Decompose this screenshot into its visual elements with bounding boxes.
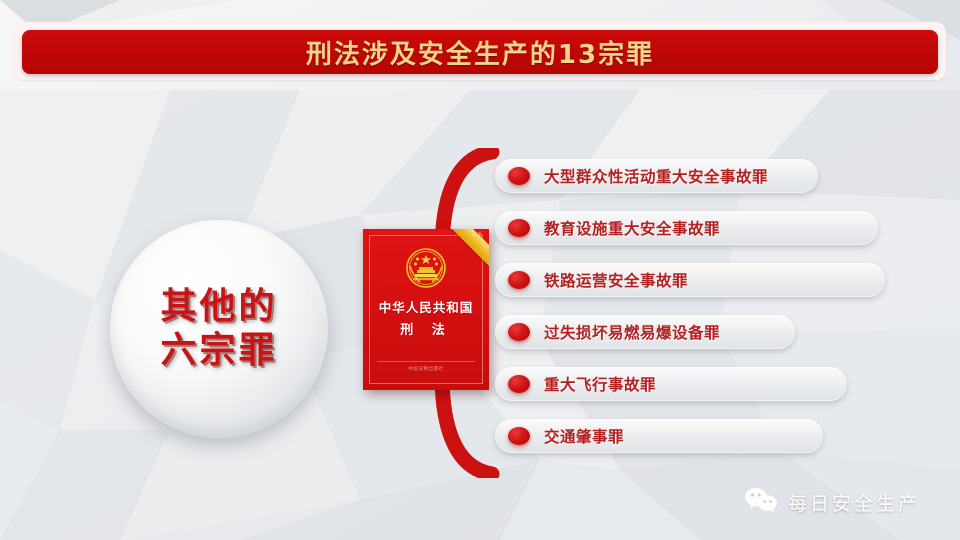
wechat-icon [744, 486, 778, 518]
list-item-label: 教育设施重大安全事故罪 [544, 217, 720, 239]
watermark: 每日安全生产 [744, 486, 920, 518]
list-item-label: 重大飞行事故罪 [544, 373, 656, 395]
slide-canvas: 刑法涉及安全生产的13宗罪 其他的 六宗罪 [0, 0, 960, 540]
list-item[interactable]: 教育设施重大安全事故罪 [495, 211, 878, 245]
bullet-icon [508, 167, 530, 185]
book-divider [377, 361, 475, 362]
bullet-icon [508, 271, 530, 289]
title-banner: 刑法涉及安全生产的13宗罪 [22, 30, 938, 74]
book-title-line2: 刑 法 [363, 319, 489, 338]
national-emblem-icon [404, 246, 448, 290]
criminal-law-book: 中华人民共和国 刑 法 中国法制出版社 最新 [363, 229, 489, 390]
page-title: 刑法涉及安全生产的13宗罪 [306, 34, 654, 71]
list-item[interactable]: 铁路运营安全事故罪 [495, 263, 885, 297]
other-six-crimes-circle: 其他的 六宗罪 [110, 220, 328, 438]
bullet-icon [508, 323, 530, 341]
circle-label-line1: 其他的 [160, 285, 277, 329]
list-item[interactable]: 过失损坏易燃易爆设备罪 [495, 315, 795, 349]
list-item-label: 交通肇事罪 [544, 425, 624, 447]
book-publisher: 中国法制出版社 [363, 366, 489, 372]
circle-label-line2: 六宗罪 [160, 329, 277, 373]
bullet-icon [508, 375, 530, 393]
book-title-line1: 中华人民共和国 [363, 297, 489, 316]
watermark-text: 每日安全生产 [788, 489, 920, 516]
bullet-icon [508, 219, 530, 237]
ribbon-label: 最新 [472, 231, 484, 237]
list-item-label: 过失损坏易燃易爆设备罪 [544, 321, 720, 343]
bullet-icon [508, 427, 530, 445]
list-item[interactable]: 重大飞行事故罪 [495, 367, 847, 401]
list-item-label: 大型群众性活动重大安全事故罪 [544, 165, 768, 187]
list-item[interactable]: 交通肇事罪 [495, 419, 823, 453]
list-item[interactable]: 大型群众性活动重大安全事故罪 [495, 159, 818, 193]
list-item-label: 铁路运营安全事故罪 [544, 269, 688, 291]
